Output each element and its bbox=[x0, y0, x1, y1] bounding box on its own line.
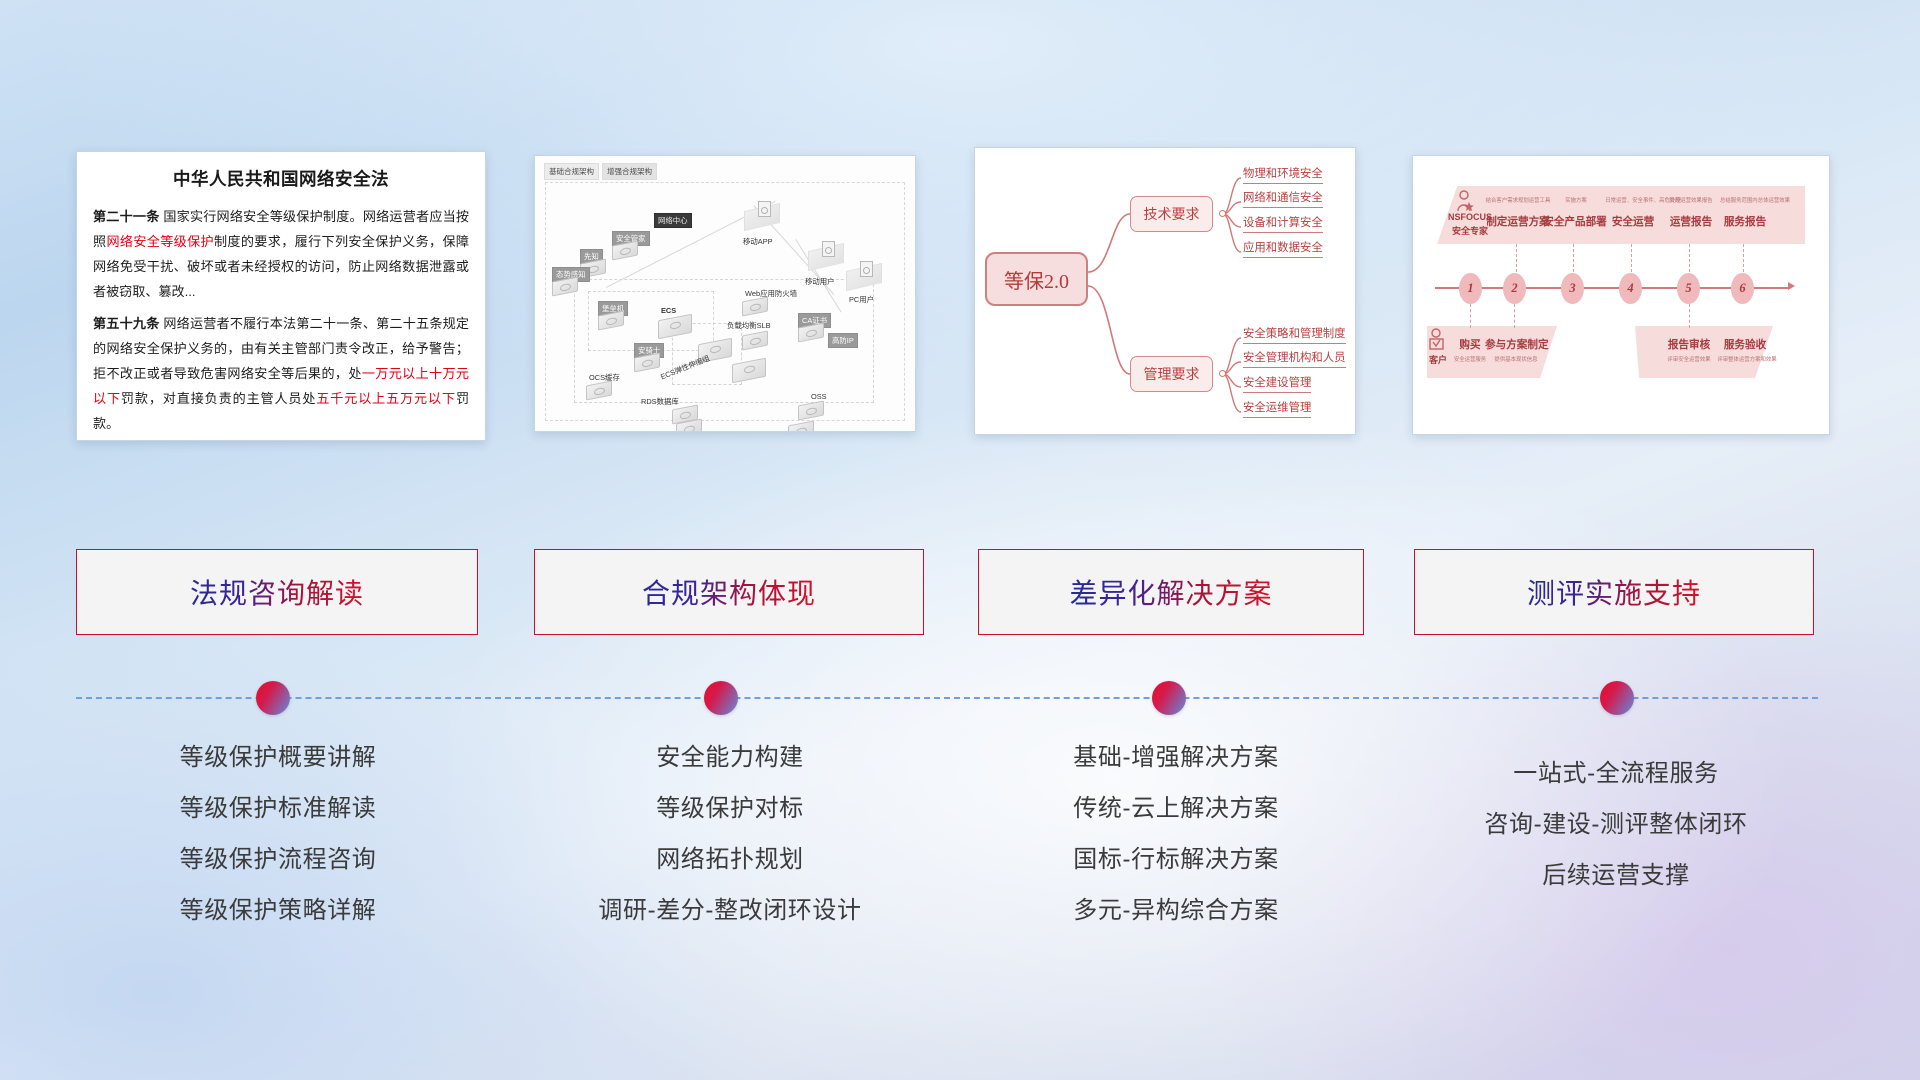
card-cloud-architecture: 基础合规架构 增强合规架构 移动APP bbox=[534, 155, 916, 432]
timeline-node-6[interactable]: 6 bbox=[1731, 273, 1754, 304]
list-item: 基础-增强解决方案 bbox=[970, 746, 1382, 770]
timeline-arrow-icon bbox=[1788, 282, 1795, 290]
heading-label-3: 差异化解决方案 bbox=[1069, 572, 1272, 612]
progress-dot-4[interactable] bbox=[1600, 681, 1634, 715]
architecture-tab-enhanced[interactable]: 增强合规架构 bbox=[602, 163, 657, 180]
card-service-timeline: NSFOCUS 安全专家 客户 1 2 3 4 5 6 bbox=[1412, 155, 1830, 435]
detail-column-1: 等级保护概要讲解 等级保护标准解读 等级保护流程咨询 等级保护策略详解 bbox=[72, 746, 484, 950]
architecture-node-label: VPC bbox=[760, 431, 781, 432]
law-paragraph-21: 第二十一条 国家实行网络安全等级保护制度。网络运营者应当按照网络安全等级保护制度… bbox=[93, 204, 469, 305]
list-item: 等级保护策略详解 bbox=[72, 899, 484, 923]
list-item: 后续运营支撑 bbox=[1410, 864, 1822, 888]
list-item: 等级保护流程咨询 bbox=[72, 848, 484, 872]
law-document: 中华人民共和国网络安全法 第二十一条 国家实行网络安全等级保护制度。网络运营者应… bbox=[77, 152, 485, 441]
timeline-connector-bottom-1 bbox=[1470, 304, 1471, 328]
list-item: 一站式-全流程服务 bbox=[1410, 762, 1822, 786]
architecture-node-ecs-scaling-2 bbox=[732, 361, 766, 380]
timeline-node-3[interactable]: 3 bbox=[1561, 273, 1584, 304]
heading-box-3[interactable]: 差异化解决方案 bbox=[978, 549, 1364, 635]
card-mindmap: 等保2.0 技术要求 物理和环境安全 网络和通信安全 设备和计算安全 应用和数据… bbox=[974, 147, 1356, 435]
architecture-node-db-audit: 数据库审计 bbox=[676, 421, 702, 432]
mobile-app-icon bbox=[758, 201, 771, 217]
architecture-node-label: 移动APP bbox=[740, 235, 776, 248]
timeline-step6-bottom-sub: 评审整体运营方案和效果 bbox=[1707, 355, 1787, 363]
progress-dashed-line bbox=[76, 697, 1818, 699]
mindmap-leaf: 设备和计算安全 bbox=[1243, 214, 1323, 233]
mindmap-leaf: 网络和通信安全 bbox=[1243, 189, 1323, 208]
list-item: 咨询-建设-测评整体闭环 bbox=[1410, 813, 1822, 837]
architecture-node-label: 网络中心 bbox=[654, 213, 692, 228]
card-law-text: 中华人民共和国网络安全法 第二十一条 国家实行网络安全等级保护制度。网络运营者应… bbox=[76, 151, 486, 441]
architecture-node-rds: RDS数据库 bbox=[638, 395, 698, 422]
timeline-connector-top-2 bbox=[1516, 244, 1517, 272]
timeline-node-5[interactable]: 5 bbox=[1677, 273, 1700, 304]
heading-label-1: 法规咨询解读 bbox=[190, 572, 364, 612]
list-item: 传统-云上解决方案 bbox=[970, 797, 1382, 821]
mobile-user-icon bbox=[822, 241, 835, 257]
architecture-node-label: RDS数据库 bbox=[638, 395, 682, 408]
architecture-node-label: 移动用户 bbox=[802, 275, 838, 288]
list-item: 国标-行标解决方案 bbox=[970, 848, 1382, 872]
timeline-connector-bottom-2 bbox=[1514, 304, 1515, 328]
law-paragraph-59: 第五十九条 网络运营者不履行本法第二十一条、第二十五条规定的网络安全保护义务的，… bbox=[93, 311, 469, 437]
timeline-step2-bottom-title: 参与方案制定 bbox=[1485, 337, 1547, 352]
mindmap-branch-technical: 技术要求 bbox=[1130, 196, 1213, 232]
timeline-step5-bottom-title: 报告审核 bbox=[1659, 337, 1719, 352]
law-title: 中华人民共和国网络安全法 bbox=[93, 166, 469, 191]
mindmap-leaf: 安全管理机构和人员 bbox=[1243, 349, 1346, 368]
timeline-step6-sub: 总结服务范围内总体运营效果 bbox=[1709, 196, 1801, 204]
timeline-node-2[interactable]: 2 bbox=[1503, 273, 1526, 304]
architecture-tab-basic[interactable]: 基础合规架构 bbox=[544, 163, 599, 180]
timeline-connector-top-3 bbox=[1573, 244, 1574, 272]
timeline-step6-bottom-title: 服务验收 bbox=[1715, 337, 1775, 352]
list-item: 等级保护对标 bbox=[524, 797, 936, 821]
progress-dot-2[interactable] bbox=[704, 681, 738, 715]
timeline-step2-sub: 结合客户需求规划运营工具 bbox=[1471, 196, 1565, 204]
heading-box-4[interactable]: 测评实施支持 bbox=[1414, 549, 1814, 635]
mindmap-leaf: 物理和环境安全 bbox=[1243, 165, 1323, 184]
architecture-node-anqishi: 安骑士 bbox=[634, 343, 660, 370]
mindmap-leaf: 应用和数据安全 bbox=[1243, 239, 1323, 258]
timeline-band-customer-right bbox=[1635, 326, 1773, 378]
timeline-connector-top-5 bbox=[1689, 244, 1690, 272]
mindmap-collapse-icon[interactable] bbox=[1219, 370, 1226, 377]
timeline-step2-bottom-sub: 提供基本现状信息 bbox=[1487, 355, 1545, 363]
detail-column-3: 基础-增强解决方案 传统-云上解决方案 国标-行标解决方案 多元-异构综合方案 bbox=[970, 746, 1382, 950]
law-article-59-text-b: 罚款，对直接负责的主管人员处 bbox=[121, 391, 316, 406]
mindmap-root-node: 等保2.0 bbox=[985, 252, 1088, 306]
architecture-node-waf: Web应用防火墙 bbox=[742, 287, 768, 314]
timeline-diagram: NSFOCUS 安全专家 客户 1 2 3 4 5 6 bbox=[1413, 156, 1829, 434]
architecture-node-label: ECS bbox=[658, 305, 679, 316]
architecture-node-ecs: ECS bbox=[658, 317, 692, 336]
timeline-connector-top-6 bbox=[1743, 244, 1744, 272]
architecture-frame: 移动APP 移动用户 PC用户 网络中心 安全管家 先知 bbox=[545, 182, 905, 421]
timeline-node-4[interactable]: 4 bbox=[1619, 273, 1642, 304]
detail-column-2: 安全能力构建 等级保护对标 网络拓扑规划 调研-差分-整改闭环设计 bbox=[524, 746, 936, 950]
slide-canvas: 中华人民共和国网络安全法 第二十一条 国家实行网络安全等级保护制度。网络运营者应… bbox=[0, 0, 1920, 1080]
list-item: 多元-异构综合方案 bbox=[970, 899, 1382, 923]
heading-box-2[interactable]: 合规架构体现 bbox=[534, 549, 924, 635]
law-article-21-label: 第二十一条 bbox=[93, 209, 160, 224]
law-article-59-highlight-2: 五千元以上五万元以下 bbox=[316, 391, 456, 406]
heading-label-2: 合规架构体现 bbox=[642, 572, 816, 612]
mindmap-leaf: 安全策略和管理制度 bbox=[1243, 325, 1346, 344]
timeline-connector-top-4 bbox=[1631, 244, 1632, 272]
heading-label-4: 测评实施支持 bbox=[1527, 572, 1701, 612]
architecture-node-ocs-cache: OCS缓存 bbox=[586, 371, 612, 398]
architecture-node-ca-cert: CA证书 bbox=[798, 313, 824, 340]
law-article-21-highlight: 网络安全等级保护 bbox=[106, 234, 214, 249]
mindmap-diagram: 等保2.0 技术要求 物理和环境安全 网络和通信安全 设备和计算安全 应用和数据… bbox=[975, 148, 1355, 434]
progress-dot-3[interactable] bbox=[1152, 681, 1186, 715]
architecture-node-label: 高防IP bbox=[828, 333, 858, 348]
timeline-connector-bottom-3 bbox=[1689, 304, 1690, 328]
timeline-step6-title: 服务报告 bbox=[1715, 214, 1775, 229]
architecture-diagram: 基础合规架构 增强合规架构 移动APP bbox=[535, 156, 915, 431]
law-article-59-label: 第五十九条 bbox=[93, 316, 160, 331]
timeline-step4-title: 安全运营 bbox=[1603, 214, 1663, 229]
architecture-node-oss: OSS bbox=[798, 391, 824, 418]
architecture-node-bastion-host: 堡垒机 bbox=[598, 301, 624, 328]
timeline-node-1[interactable]: 1 bbox=[1459, 273, 1482, 304]
list-item: 安全能力构建 bbox=[524, 746, 936, 770]
mindmap-collapse-icon[interactable] bbox=[1219, 210, 1226, 217]
list-item: 等级保护概要讲解 bbox=[72, 746, 484, 770]
architecture-node-slb: 负载均衡SLB bbox=[724, 319, 768, 348]
progress-dot-1[interactable] bbox=[256, 681, 290, 715]
architecture-node-vpc: VPC bbox=[760, 425, 814, 432]
heading-box-1[interactable]: 法规咨询解读 bbox=[76, 549, 478, 635]
list-item: 网络拓扑规划 bbox=[524, 848, 936, 872]
architecture-node-label: Web应用防火墙 bbox=[742, 287, 800, 300]
architecture-node-situational-awareness: 态势感知 bbox=[552, 267, 578, 294]
architecture-node-label: PC用户 bbox=[846, 293, 877, 306]
list-item: 调研-差分-整改闭环设计 bbox=[524, 899, 936, 923]
detail-column-4: 一站式-全流程服务 咨询-建设-测评整体闭环 后续运营支撑 bbox=[1410, 762, 1822, 915]
mindmap-leaf: 安全建设管理 bbox=[1243, 374, 1311, 393]
list-item: 等级保护标准解读 bbox=[72, 797, 484, 821]
mindmap-branch-management: 管理要求 bbox=[1130, 356, 1213, 392]
architecture-tabs: 基础合规架构 增强合规架构 bbox=[544, 163, 657, 180]
pc-user-icon bbox=[860, 261, 873, 277]
timeline-step5-title: 运营报告 bbox=[1661, 214, 1721, 229]
mindmap-leaf: 安全运维管理 bbox=[1243, 399, 1311, 418]
architecture-node-security-butler: 安全管家 bbox=[612, 231, 638, 258]
